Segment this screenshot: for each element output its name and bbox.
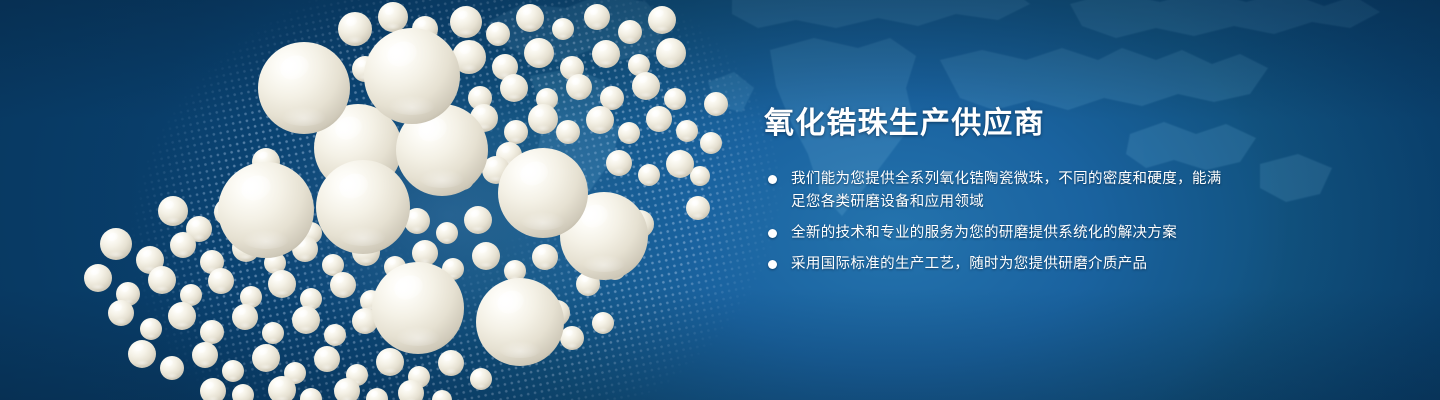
bullet-dot-icon xyxy=(768,229,777,238)
feature-list-item: 全新的技术和专业的服务为您的研磨提供系统化的解决方案 xyxy=(764,222,1234,245)
feature-list-item-label: 我们能为您提供全系列氧化锆陶瓷微珠，不同的密度和硬度，能满足您各类研磨设备和应用… xyxy=(791,168,1234,214)
feature-list: 我们能为您提供全系列氧化锆陶瓷微珠，不同的密度和硬度，能满足您各类研磨设备和应用… xyxy=(764,168,1234,276)
feature-list-item-label: 采用国际标准的生产工艺，随时为您提供研磨介质产品 xyxy=(791,253,1234,276)
banner-copy: 氧化锆珠生产供应商 我们能为您提供全系列氧化锆陶瓷微珠，不同的密度和硬度，能满足… xyxy=(764,104,1234,276)
bullet-dot-icon xyxy=(768,260,777,269)
bullet-dot-icon xyxy=(768,175,777,184)
feature-list-item: 采用国际标准的生产工艺，随时为您提供研磨介质产品 xyxy=(764,253,1234,276)
feature-list-item: 我们能为您提供全系列氧化锆陶瓷微珠，不同的密度和硬度，能满足您各类研磨设备和应用… xyxy=(764,168,1234,214)
page-title: 氧化锆珠生产供应商 xyxy=(764,104,1234,144)
feature-list-item-label: 全新的技术和专业的服务为您的研磨提供系统化的解决方案 xyxy=(791,222,1234,245)
hero-banner: 氧化锆珠生产供应商 我们能为您提供全系列氧化锆陶瓷微珠，不同的密度和硬度，能满足… xyxy=(0,0,1440,400)
